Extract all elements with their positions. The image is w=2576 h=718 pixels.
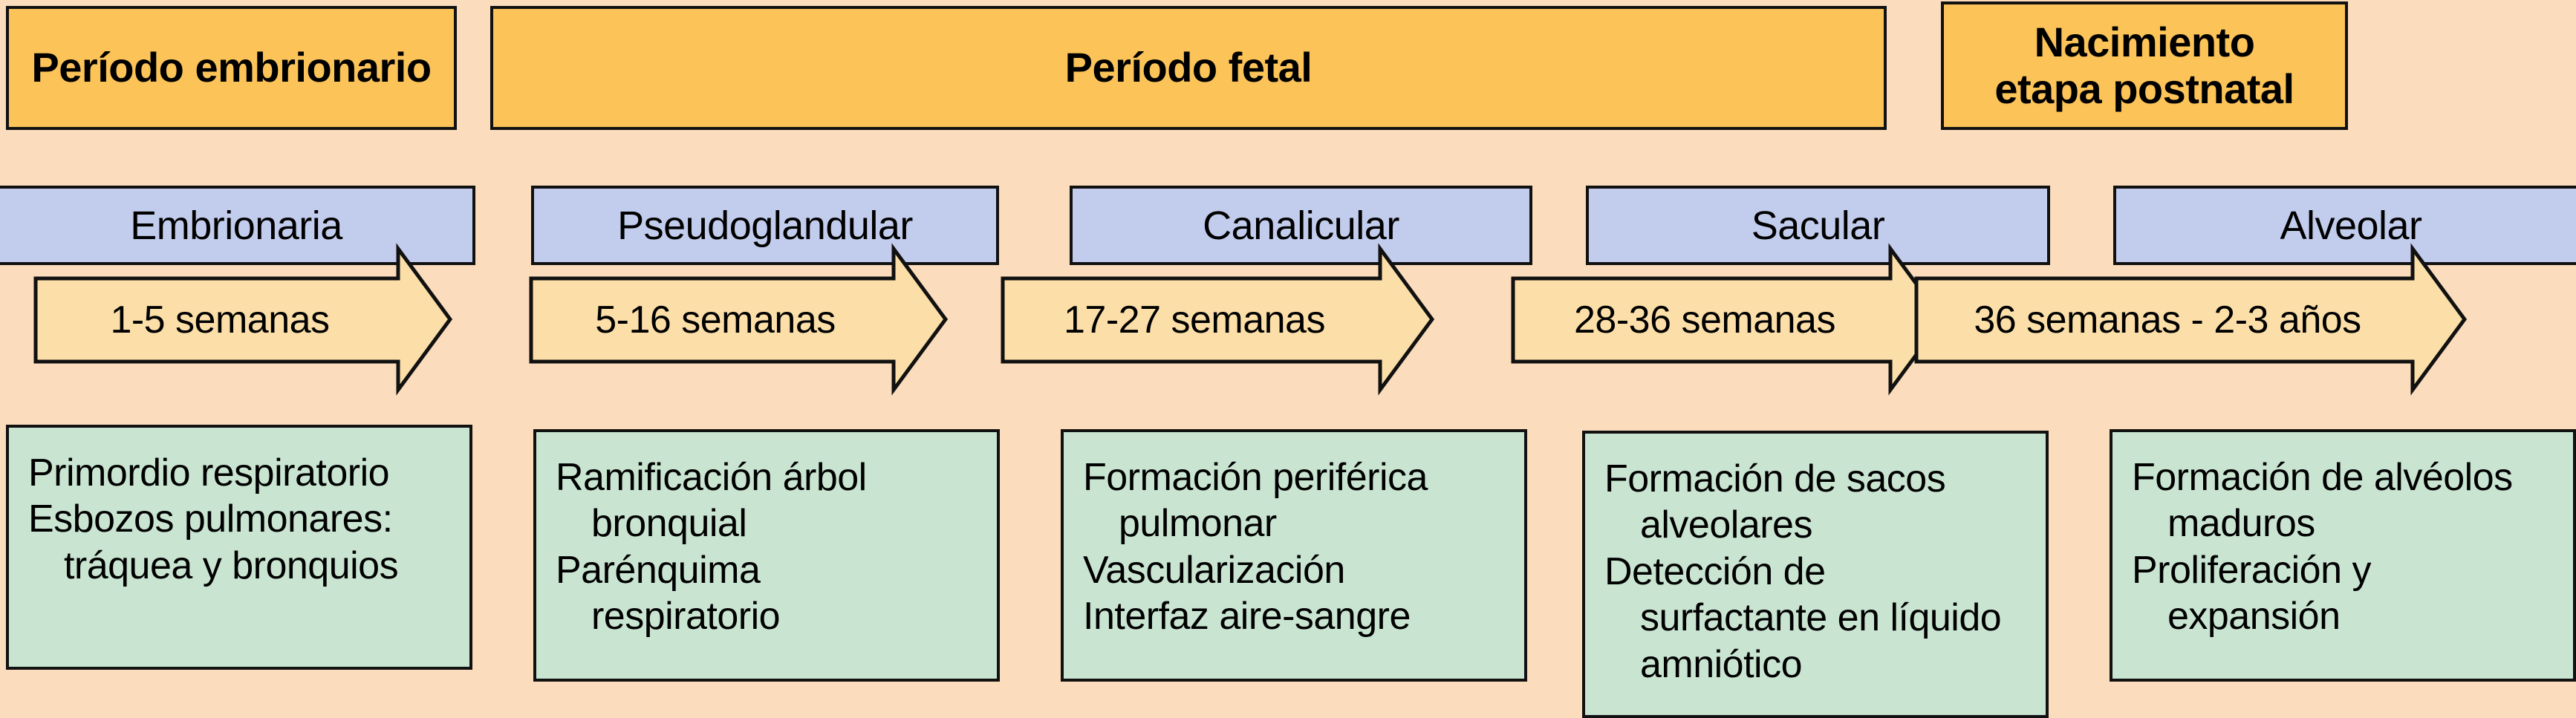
feature-line: Proliferación y expansión <box>2132 547 2554 640</box>
lung-development-timeline-diagram: Período embrionario Período fetal Nacimi… <box>0 0 2576 718</box>
period-header-label: Nacimiento etapa postnatal <box>1994 19 2294 112</box>
description-box-sacular: Formación de sacos alveolares Detección … <box>1582 431 2049 718</box>
stage-name-label: Pseudoglandular <box>617 203 913 249</box>
duration-arrow-sacular: 28-36 semanas <box>1512 245 1980 394</box>
arrow-shape <box>1001 245 1469 394</box>
stage-name-label: Alveolar <box>2280 203 2421 249</box>
arrow-shape <box>34 245 487 394</box>
period-header-embrionario: Período embrionario <box>6 6 457 130</box>
feature-line: Vascularización <box>1083 547 1505 593</box>
stage-name-label: Canalicular <box>1203 203 1399 249</box>
feature-line: Formación periférica pulmonar <box>1083 454 1505 547</box>
duration-arrow-pseudoglandular: 5-16 semanas <box>530 245 983 394</box>
stage-name-label: Embrionaria <box>130 203 342 249</box>
duration-arrow-canalicular: 17-27 semanas <box>1001 245 1469 394</box>
description-box-pseudoglandular: Ramificación árbol bronquial Parénquima … <box>533 429 1000 682</box>
arrow-shape <box>530 245 983 394</box>
feature-line: Primordio respiratorio <box>28 450 450 496</box>
feature-line: Parénquima respiratorio <box>556 547 978 640</box>
feature-line: Formación de sacos alveolares <box>1604 456 2026 549</box>
feature-line: Detección de surfactante en líquido amni… <box>1604 549 2026 688</box>
stage-name-label: Sacular <box>1752 203 1885 249</box>
duration-arrow-alveolar: 36 semanas - 2-3 años <box>1915 245 2502 394</box>
duration-arrow-embrionaria: 1-5 semanas <box>34 245 487 394</box>
description-box-canalicular: Formación periférica pulmonar Vasculariz… <box>1061 429 1527 682</box>
period-header-label: Período fetal <box>1065 45 1313 91</box>
feature-line: Ramificación árbol bronquial <box>556 454 978 547</box>
arrow-shape <box>1915 245 2502 394</box>
feature-line: Formación de alvéolos maduros <box>2132 454 2554 547</box>
description-box-alveolar: Formación de alvéolos maduros Proliferac… <box>2110 429 2576 682</box>
period-header-label: Período embrionario <box>31 45 431 91</box>
feature-line: Interfaz aire-sangre <box>1083 593 1505 639</box>
period-header-fetal: Período fetal <box>490 6 1887 130</box>
feature-line: Esbozos pulmonares: tráquea y bronquios <box>28 496 450 589</box>
arrow-shape <box>1512 245 1980 394</box>
period-header-nacimiento-postnatal: Nacimiento etapa postnatal <box>1941 1 2348 130</box>
description-box-embrionaria: Primordio respiratorio Esbozos pulmonare… <box>6 425 472 670</box>
